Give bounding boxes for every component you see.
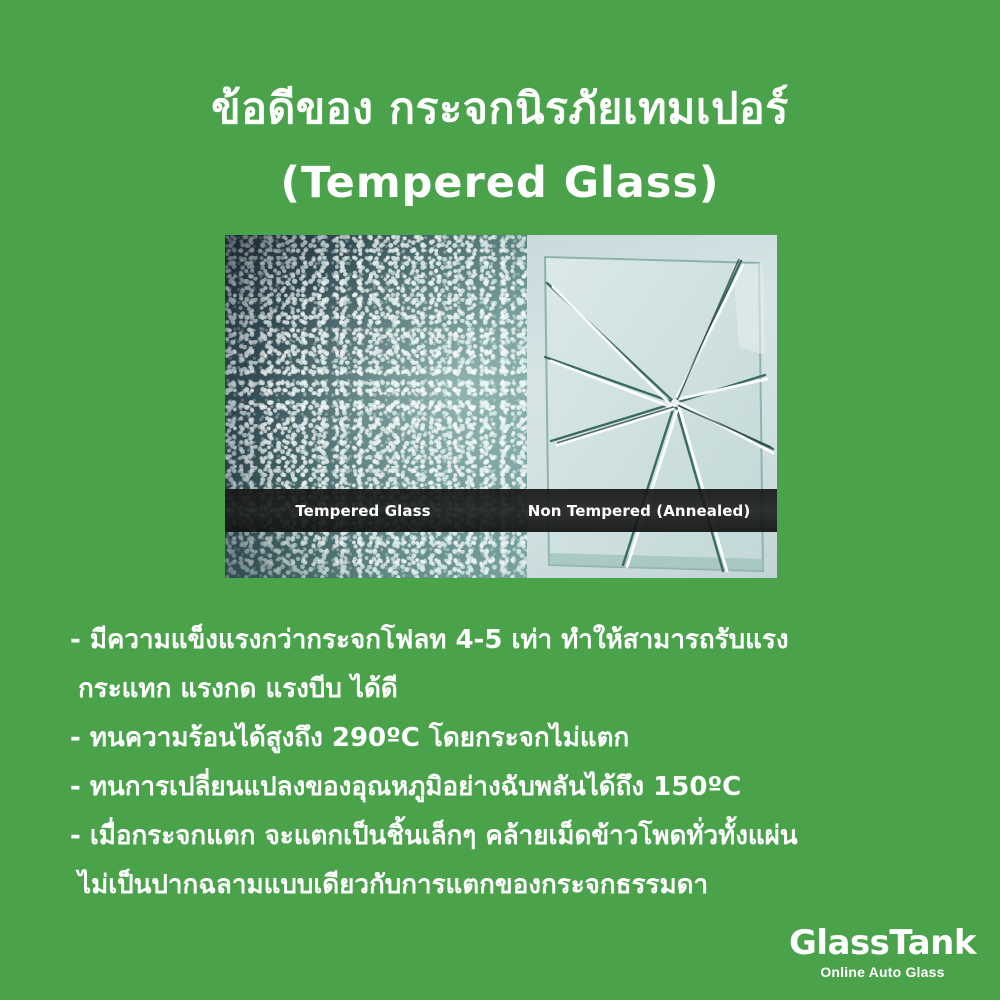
poster-canvas: ข้อดีของ กระจกนิรภัยเทมเปอร์ (Tempered G… <box>0 0 1000 1000</box>
title-line-1: ข้อดีของ กระจกนิรภัยเทมเปอร์ <box>0 72 1000 146</box>
brand-name: GlassTank <box>789 924 976 962</box>
bullet-4-line-2: ไม่เป็นปากฉลามแบบเดียวกับการแตกของกระจกธ… <box>70 861 950 910</box>
title-line-2: (Tempered Glass) <box>0 146 1000 220</box>
brand-logo: GlassTank Online Auto Glass <box>789 924 976 982</box>
page-title: ข้อดีของ กระจกนิรภัยเทมเปอร์ (Tempered G… <box>0 72 1000 220</box>
photo-inner: Tempered Glass Non Tempered (Annealed) <box>225 235 777 578</box>
caption-non-tempered: Non Tempered (Annealed) <box>501 502 777 520</box>
bullet-1-line-1: - มีความแข็งแรงกว่ากระจกโฟลท 4-5 เท่า ทำ… <box>70 616 950 665</box>
bullet-2-line-1: - ทนความร้อนได้สูงถึง 290ºC โดยกระจกไม่แ… <box>70 714 950 763</box>
bullet-3-line-1: - ทนการเปลี่ยนแปลงของอุณหภูมิอย่างฉับพลั… <box>70 763 950 812</box>
bullet-4-line-1: - เมื่อกระจกแตก จะแตกเป็นชิ้นเล็กๆ คล้าย… <box>70 812 950 861</box>
caption-tempered: Tempered Glass <box>225 502 501 520</box>
glass-comparison-photo: Tempered Glass Non Tempered (Annealed) <box>225 235 777 578</box>
brand-tagline: Online Auto Glass <box>789 962 976 982</box>
benefits-list: - มีความแข็งแรงกว่ากระจกโฟลท 4-5 เท่า ทำ… <box>70 616 950 910</box>
bullet-1-line-2: กระแทก แรงกด แรงบีบ ได้ดี <box>70 665 950 714</box>
photo-caption-bar: Tempered Glass Non Tempered (Annealed) <box>225 489 777 532</box>
